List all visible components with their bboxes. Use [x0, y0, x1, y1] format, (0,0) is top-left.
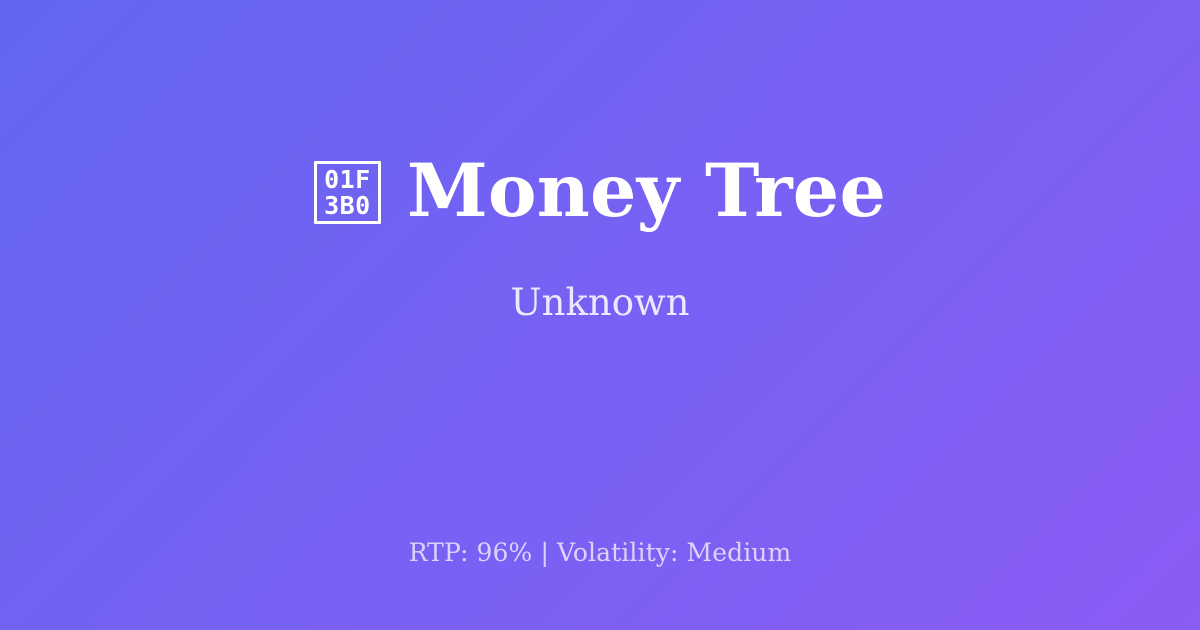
og-card: 01F 3B0 Money Tree Unknown RTP: 96% | Vo…: [0, 0, 1200, 630]
game-provider-subtitle: Unknown: [510, 281, 689, 325]
game-stats-line: RTP: 96% | Volatility: Medium: [0, 537, 1200, 568]
game-title-text: Money Tree: [407, 152, 886, 231]
tofu-codepoint-bottom: 3B0: [324, 193, 371, 219]
tofu-codepoint-top: 01F: [324, 167, 371, 193]
page-title: 01F 3B0 Money Tree: [314, 152, 886, 231]
slot-machine-icon: 01F 3B0: [314, 161, 381, 224]
hero-block: 01F 3B0 Money Tree Unknown: [0, 0, 1200, 478]
